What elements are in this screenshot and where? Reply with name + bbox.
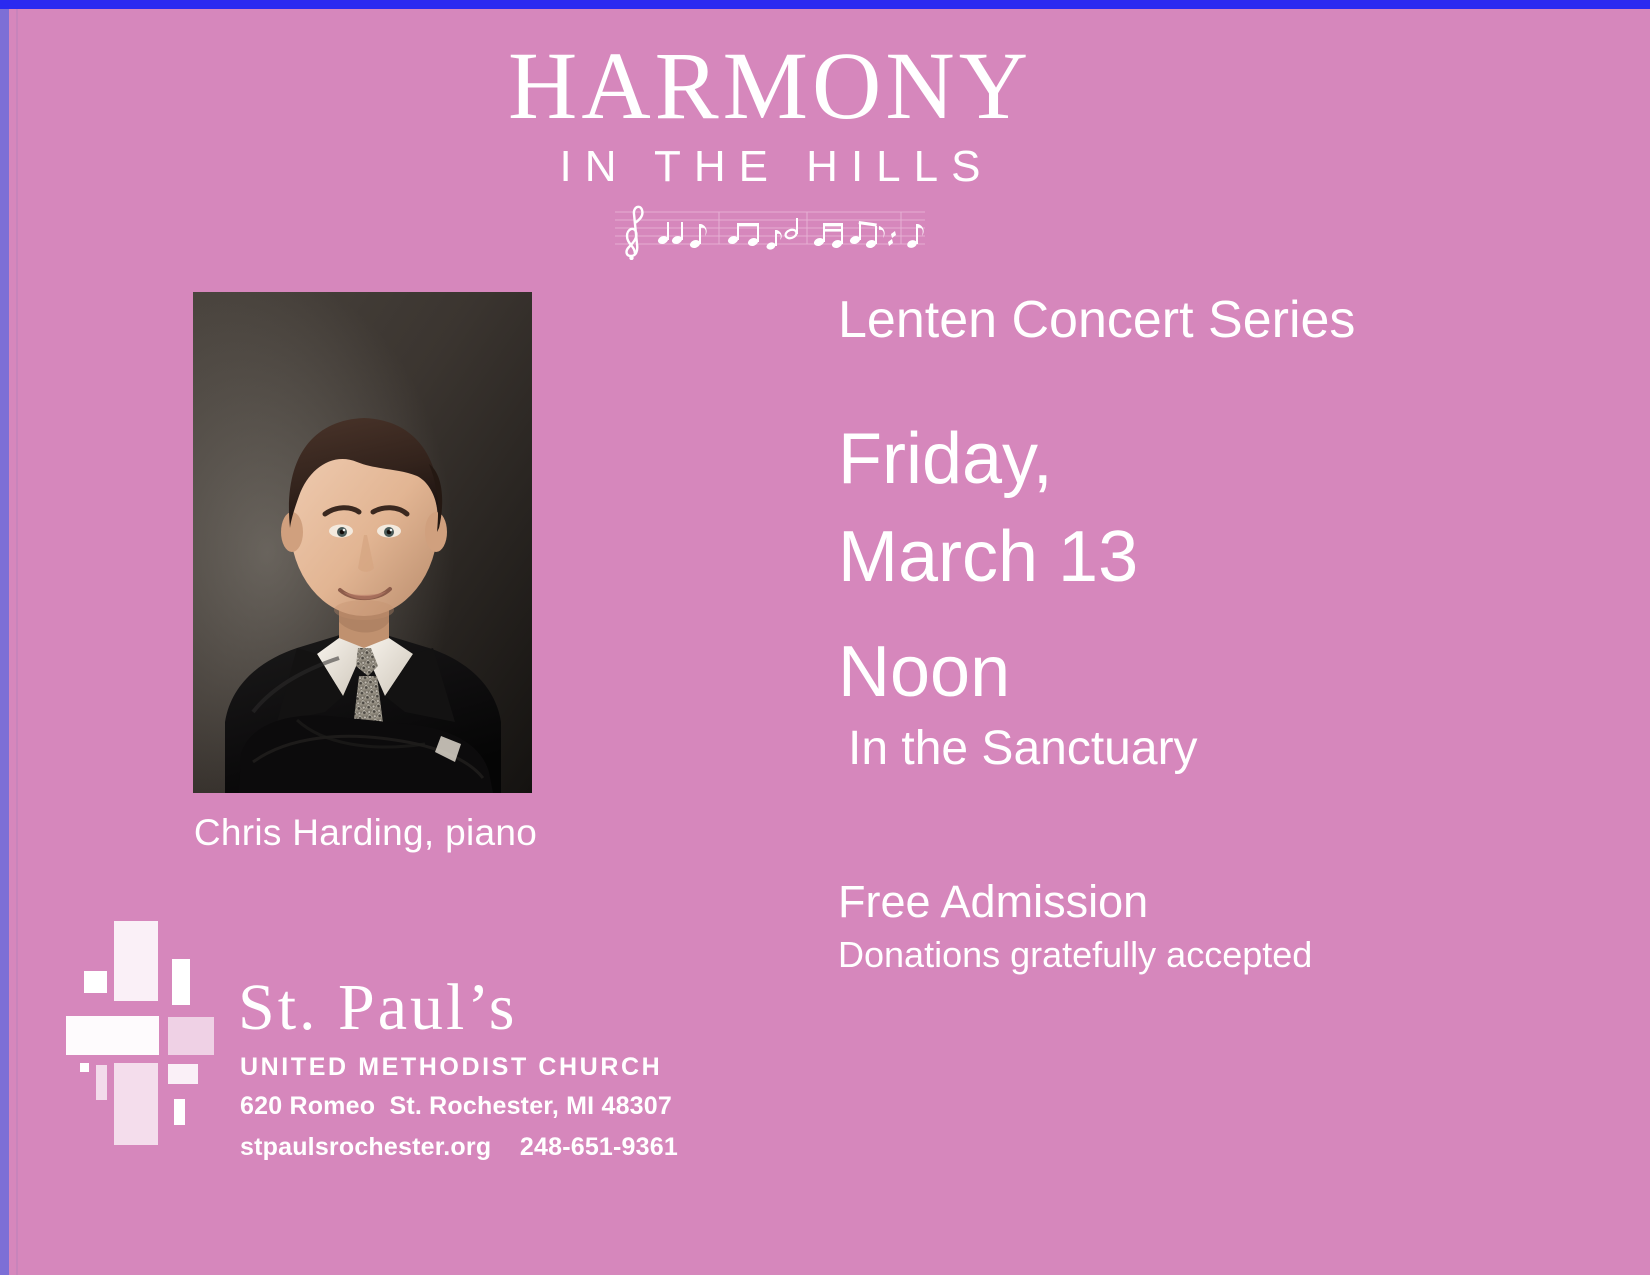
event-day: Friday, [838, 411, 1538, 509]
music-staff-icon [0, 202, 1540, 260]
event-details: Lenten Concert Series Friday, March 13 N… [838, 292, 1538, 975]
church-identity-block: St. Paul’s UNITED METHODIST CHURCH 620 R… [238, 975, 878, 1162]
event-series: Lenten Concert Series [838, 292, 1538, 349]
church-contact[interactable]: stpaulsrochester.org 248-651-9361 [240, 1133, 878, 1162]
performer-photo [193, 292, 532, 793]
poster-subtitle: IN THE HILLS [0, 142, 1540, 192]
viewer-top-border [0, 0, 1650, 9]
deconstructed-cross-logo [62, 915, 212, 1145]
event-location: In the Sanctuary [848, 721, 1538, 776]
poster-header: HARMONY IN THE HILLS [0, 36, 1540, 260]
church-denomination: UNITED METHODIST CHURCH [240, 1053, 878, 1082]
concert-poster: HARMONY IN THE HILLS [0, 0, 1650, 1275]
event-donations-note: Donations gratefully accepted [838, 934, 1538, 975]
performer-caption: Chris Harding, piano [193, 812, 538, 854]
poster-title: HARMONY [0, 36, 1540, 136]
event-admission: Free Admission [838, 877, 1538, 927]
church-address: 620 Romeo St. Rochester, MI 48307 [240, 1092, 878, 1121]
event-time: Noon [838, 629, 1538, 715]
church-name: St. Paul’s [238, 975, 878, 1041]
event-date: March 13 [838, 509, 1538, 607]
